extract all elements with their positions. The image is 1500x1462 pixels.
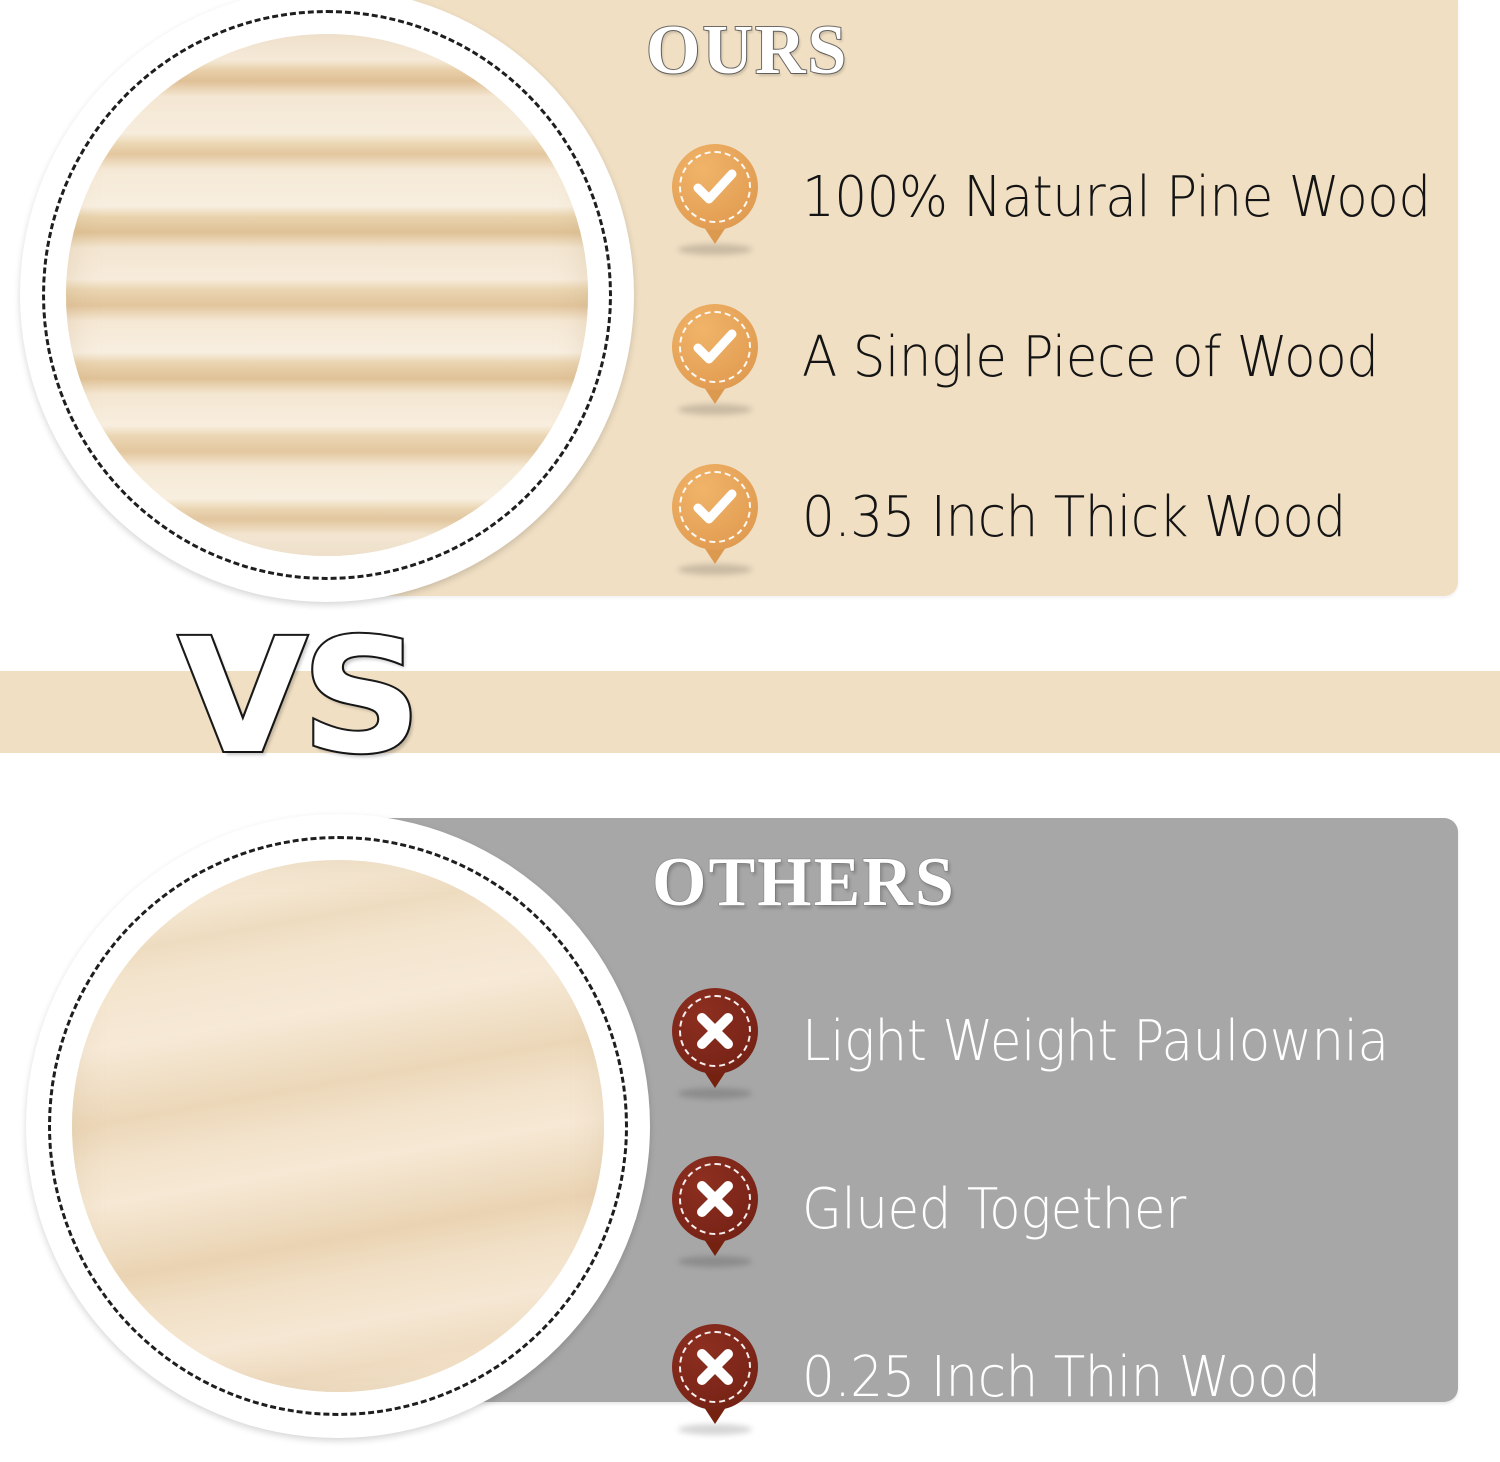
others-feature-list: Light Weight Paulownia Glued Together xyxy=(668,958,1428,1462)
pin-shadow xyxy=(678,244,752,255)
others-title: OTHERS xyxy=(652,846,956,920)
check-glyph xyxy=(672,304,758,390)
ours-feature-list: 100% Natural Pine Wood A Single Piece of… xyxy=(668,118,1428,598)
check-icon xyxy=(668,304,762,412)
cross-icon xyxy=(668,1156,762,1264)
list-item-label: 100% Natural Pine Wood xyxy=(802,168,1431,228)
check-glyph xyxy=(672,464,758,550)
others-wood-disc xyxy=(72,860,604,1392)
ours-wood-disc xyxy=(66,34,588,556)
list-item-label: 0.35 Inch Thick Wood xyxy=(802,488,1346,548)
cross-icon xyxy=(668,1324,762,1432)
check-glyph xyxy=(672,144,758,230)
pin-shadow xyxy=(678,404,752,415)
pin-shadow xyxy=(678,1088,752,1099)
pin-shadow xyxy=(678,1424,752,1435)
vs-label: VS xyxy=(178,618,416,776)
check-icon xyxy=(668,144,762,252)
cross-icon xyxy=(668,988,762,1096)
pin-shadow xyxy=(678,1256,752,1267)
ours-product-photo xyxy=(20,0,634,602)
pine-wood-texture xyxy=(66,34,588,556)
paulownia-wood-texture xyxy=(72,860,604,1392)
cross-glyph xyxy=(672,988,758,1074)
ours-title: OURS xyxy=(646,14,848,88)
list-item: Glued Together xyxy=(668,1126,1428,1294)
list-item-label: A Single Piece of Wood xyxy=(802,328,1379,388)
comparison-infographic: VS OURS 100% Natural Pine Wood xyxy=(0,0,1500,1421)
list-item: 0.25 Inch Thin Wood xyxy=(668,1294,1428,1462)
list-item-label: Light Weight Paulownia xyxy=(802,1012,1389,1072)
list-item: 0.35 Inch Thick Wood xyxy=(668,438,1428,598)
cross-glyph xyxy=(672,1156,758,1242)
list-item: 100% Natural Pine Wood xyxy=(668,118,1428,278)
cross-glyph xyxy=(672,1324,758,1410)
list-item-label: Glued Together xyxy=(802,1180,1186,1240)
check-icon xyxy=(668,464,762,572)
list-item: Light Weight Paulownia xyxy=(668,958,1428,1126)
list-item: A Single Piece of Wood xyxy=(668,278,1428,438)
list-item-label: 0.25 Inch Thin Wood xyxy=(802,1348,1321,1408)
others-product-photo xyxy=(26,814,650,1438)
pin-shadow xyxy=(678,564,752,575)
